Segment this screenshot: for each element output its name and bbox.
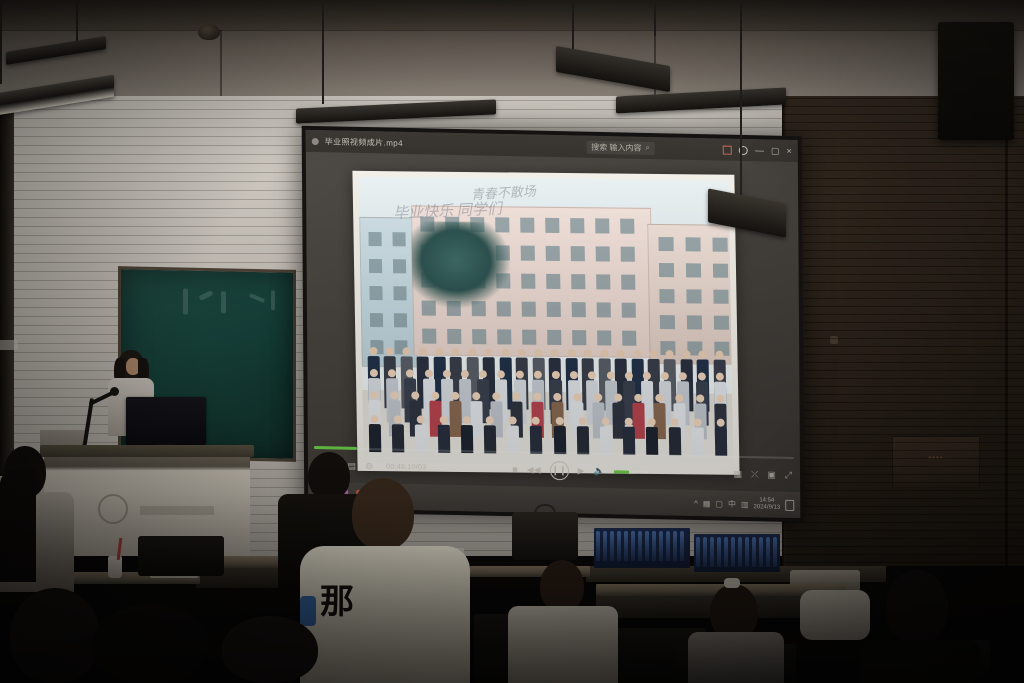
window-controls[interactable]: — ▢ × xyxy=(723,145,792,155)
photo-person-head xyxy=(661,372,669,380)
photo-person-head xyxy=(371,415,379,423)
projected-desktop: 毕业照视频成片.mp4 搜索 输入内容 ⌕ — ▢ × xyxy=(306,130,801,518)
handbag-handle xyxy=(534,504,556,516)
water-bottle xyxy=(673,531,677,561)
photo-window xyxy=(597,330,611,345)
wall-slat xyxy=(782,466,1024,467)
wall-slat xyxy=(782,386,1024,387)
hamburger-icon[interactable] xyxy=(312,137,319,144)
photo-window xyxy=(714,316,729,330)
photo-person-head xyxy=(419,348,427,356)
photo-person xyxy=(622,418,635,455)
photo-person xyxy=(599,417,612,454)
water-bottle xyxy=(603,531,607,561)
photo-person-head xyxy=(402,347,410,355)
photo-window xyxy=(369,259,382,273)
photo-window xyxy=(570,218,584,233)
photo-window xyxy=(546,274,560,289)
photo-person-head xyxy=(666,350,674,358)
student-far-right-sleeve xyxy=(800,590,870,640)
minimize-button[interactable]: — xyxy=(755,146,764,155)
student-cream-shirt-sleeve xyxy=(300,596,316,626)
photo-person-head xyxy=(600,349,608,357)
wall-plaque: ▪▪▪▪ xyxy=(892,436,980,488)
photo-person-head xyxy=(584,349,592,357)
photo-person-head xyxy=(717,419,725,427)
water-bottle-crate-1 xyxy=(594,528,690,568)
wall-slat xyxy=(782,194,1024,195)
photo-window xyxy=(597,302,611,317)
play-pause-button[interactable]: ❙❙ xyxy=(549,460,568,479)
wall-slat xyxy=(782,234,1024,235)
photo-person-head xyxy=(574,393,582,401)
wall-slat xyxy=(782,282,1024,283)
photo-person-head xyxy=(588,371,596,379)
wall-slat xyxy=(782,338,1024,339)
podium-monitor xyxy=(126,397,206,445)
photo-person-head xyxy=(614,394,622,402)
wall-slat xyxy=(782,210,1024,211)
wall-slat xyxy=(782,346,1024,347)
search-icon[interactable]: ⌕ xyxy=(645,143,650,153)
media-filename: 毕业照视频成片.mp4 xyxy=(325,136,403,149)
water-bottle xyxy=(773,537,777,567)
projector-screen: 毕业照视频成片.mp4 搜索 输入内容 ⌕ — ▢ × xyxy=(302,126,805,523)
maximize-button[interactable]: ▢ xyxy=(771,146,780,155)
wall-light-strip xyxy=(0,340,18,350)
photo-person xyxy=(668,418,681,455)
wall-slat xyxy=(782,490,1024,491)
student-right-row-hairclip xyxy=(724,578,740,588)
smoke-detector-icon xyxy=(198,24,220,40)
student-mid-row-body xyxy=(508,606,618,683)
photo-person-head xyxy=(551,349,559,357)
water-bottle xyxy=(645,531,649,561)
display-icon[interactable]: ▢ xyxy=(715,499,723,508)
search-input[interactable]: 搜索 输入内容 ⌕ xyxy=(586,140,655,154)
photo-person-head xyxy=(486,416,494,424)
photo-person xyxy=(645,418,658,455)
photo-person-head xyxy=(435,348,443,356)
photo-window xyxy=(520,218,534,233)
wall-slat xyxy=(782,162,1024,163)
photo-person-head xyxy=(635,394,643,402)
photo-person-head xyxy=(699,350,707,358)
photo-window xyxy=(369,286,382,300)
wall-slat xyxy=(782,202,1024,203)
photo-person-head xyxy=(388,369,396,377)
photo-building-right xyxy=(647,224,733,365)
mute-button[interactable]: 🔈 xyxy=(593,466,604,475)
photo-person-head xyxy=(553,393,561,401)
water-bottle xyxy=(703,537,707,567)
photo-person-head xyxy=(625,372,633,380)
wall-slat xyxy=(782,378,1024,379)
wall-slat xyxy=(782,546,1024,547)
battery-icon[interactable]: ▥ xyxy=(741,499,749,508)
photo-window xyxy=(472,329,486,344)
photo-window xyxy=(596,246,610,261)
photo-person-body xyxy=(646,427,658,455)
chair-back-1 xyxy=(138,536,224,576)
photo-window xyxy=(659,289,674,303)
water-bottle xyxy=(610,531,614,561)
student-front-center-head xyxy=(92,604,208,683)
photo-window xyxy=(370,313,383,327)
student-cream-shirt-head xyxy=(352,478,414,550)
water-bottle xyxy=(745,537,749,567)
wall-slat xyxy=(782,458,1024,459)
photo-person-head xyxy=(643,372,651,380)
wall-slat xyxy=(782,474,1024,475)
photo-window xyxy=(686,263,701,277)
photo-person xyxy=(576,417,589,454)
photo-person-head xyxy=(391,391,399,399)
student-right-row-body xyxy=(688,632,784,683)
wall-slat xyxy=(782,322,1024,323)
water-bottle xyxy=(617,531,621,561)
photo-window xyxy=(393,286,406,300)
photo-person-head xyxy=(369,347,377,355)
photo-sculpture xyxy=(411,221,510,308)
photo-window xyxy=(620,219,634,234)
previous-button[interactable]: ◀◀ xyxy=(527,465,541,474)
wall-slat xyxy=(782,218,1024,219)
photo-person-head xyxy=(716,373,724,381)
photo-person-head xyxy=(675,394,683,402)
photo-person-head xyxy=(649,350,657,358)
wall-slat xyxy=(782,450,1024,451)
photo-person-head xyxy=(509,416,517,424)
ceiling xyxy=(0,0,1024,100)
photo-window xyxy=(394,313,407,327)
network-icon[interactable]: ▦ xyxy=(703,499,711,508)
photo-window xyxy=(521,274,535,289)
photo-person-head xyxy=(534,349,542,357)
water-bottle xyxy=(759,537,763,567)
photo-person-head xyxy=(370,391,378,399)
drink-cup xyxy=(108,556,122,578)
photo-window xyxy=(497,329,511,344)
photo-person xyxy=(691,418,704,455)
photo-window xyxy=(713,290,728,304)
record-icon[interactable] xyxy=(723,145,732,154)
photo-person-head xyxy=(697,372,705,380)
ceiling-beam xyxy=(0,0,1024,30)
wall-slat xyxy=(782,482,1024,483)
volume-slider[interactable] xyxy=(614,470,648,474)
speed-icon[interactable]: ⤬ xyxy=(751,470,758,479)
student-cream-shirt-graphic: 那 xyxy=(320,586,358,626)
wall-slat xyxy=(782,362,1024,363)
photo-person-head xyxy=(386,347,394,355)
photo-person-head xyxy=(431,392,439,400)
photo-person-head xyxy=(534,371,542,379)
water-bottle xyxy=(638,531,642,561)
photo-window xyxy=(545,218,559,233)
photo-person-head xyxy=(417,416,425,424)
photo-person-head xyxy=(370,369,378,377)
photo-window xyxy=(547,330,561,345)
wall-slat xyxy=(782,410,1024,411)
taskbar-clock[interactable]: 14:54 2024/9/13 xyxy=(753,497,780,511)
water-bottle xyxy=(710,537,714,567)
photo-window xyxy=(422,329,436,344)
photo-person-head xyxy=(463,416,471,424)
settings-icon[interactable]: ⚙ xyxy=(365,462,373,471)
water-bottle xyxy=(652,531,656,561)
wall-slat xyxy=(782,274,1024,275)
wall-slat xyxy=(782,538,1024,539)
wall-slat xyxy=(782,530,1024,531)
photo-person-head xyxy=(670,418,678,426)
wall-slat xyxy=(782,154,1024,155)
wall-slat xyxy=(782,506,1024,507)
photo-person-head xyxy=(616,350,624,358)
photo-person-body xyxy=(692,427,704,455)
water-bottle xyxy=(724,537,728,567)
photo-person-head xyxy=(532,417,540,425)
photo-person xyxy=(553,417,566,454)
photo-window xyxy=(521,246,535,261)
photo-person-head xyxy=(515,371,523,379)
wall-slat xyxy=(782,146,1024,147)
notification-icon[interactable] xyxy=(785,499,794,510)
water-bottle xyxy=(596,531,600,561)
chevron-up-icon[interactable]: ^ xyxy=(694,498,698,507)
water-bottle xyxy=(717,537,721,567)
photo-person-head xyxy=(693,418,701,426)
photo-person-head xyxy=(513,393,521,401)
wall-slat xyxy=(782,394,1024,395)
microphone-head xyxy=(110,387,119,396)
photo-window xyxy=(522,330,536,345)
photo-person-head xyxy=(594,393,602,401)
media-player-titlebar: 毕业照视频成片.mp4 搜索 输入内容 ⌕ — ▢ × xyxy=(306,130,798,162)
photo-window xyxy=(546,246,560,261)
photo-person-body xyxy=(715,428,727,456)
photo-window xyxy=(595,218,609,233)
student-front-center2-head xyxy=(222,616,318,683)
fullscreen-icon[interactable]: ▣ xyxy=(767,470,776,479)
stop-button[interactable]: ■ xyxy=(512,465,518,474)
photo-window xyxy=(572,302,586,317)
wall-slat xyxy=(782,514,1024,515)
photo-window xyxy=(571,246,585,261)
wall-slat xyxy=(782,354,1024,355)
water-bottle xyxy=(680,531,684,561)
photo-person xyxy=(715,419,728,456)
wall-speaker xyxy=(938,22,1014,140)
water-bottle xyxy=(752,537,756,567)
wall-slat xyxy=(782,330,1024,331)
photo-person-head xyxy=(411,391,419,399)
grid-icon[interactable]: ▦ xyxy=(734,469,743,478)
wall-slat xyxy=(782,442,1024,443)
next-button[interactable]: ▶ xyxy=(578,466,585,475)
photo-person-head xyxy=(518,349,526,357)
photo-person-head xyxy=(578,417,586,425)
ime-icon[interactable]: 中 xyxy=(728,498,736,509)
photo-person-head xyxy=(555,417,563,425)
student-left-foreground-hair xyxy=(0,470,36,582)
photo-person-head xyxy=(468,348,476,356)
photo-person-head xyxy=(501,348,509,356)
photo-person-head xyxy=(682,350,690,358)
photo-window xyxy=(713,264,728,278)
clock-date: 2024/9/13 xyxy=(754,504,781,511)
water-bottle-crate-2 xyxy=(694,534,780,572)
wall-slat xyxy=(782,426,1024,427)
photo-person-head xyxy=(552,371,560,379)
photo-person-head xyxy=(492,392,500,400)
student-dark-jacket-head xyxy=(308,452,350,500)
wall-slat xyxy=(782,258,1024,259)
photo-person xyxy=(530,417,543,454)
water-bottle xyxy=(766,537,770,567)
photo-window xyxy=(547,302,561,317)
water-bottle xyxy=(624,531,628,561)
expand-icon[interactable]: ⤢ xyxy=(785,470,792,479)
system-tray: ^ ▦ ▢ 中 ▥ 14:54 2024/9/13 xyxy=(694,496,794,512)
progress-fill xyxy=(314,446,357,450)
student-mid-row-head xyxy=(540,560,584,612)
wall-slat xyxy=(782,562,1024,563)
volume-fill xyxy=(614,470,630,473)
wall-slat xyxy=(782,402,1024,403)
photo-window xyxy=(659,263,674,277)
photo-person-head xyxy=(716,395,724,403)
photo-person-head xyxy=(485,348,493,356)
photo-person-head xyxy=(533,393,541,401)
photo-window xyxy=(392,232,405,246)
photo-person-head xyxy=(497,370,505,378)
water-bottle xyxy=(731,537,735,567)
wall-slat xyxy=(782,314,1024,315)
wall-slat xyxy=(782,434,1024,435)
photo-person-head xyxy=(479,370,487,378)
photo-window xyxy=(621,275,635,290)
time-label: 00:46:10/03 xyxy=(386,463,426,471)
right-wall: ▪▪▪▪ xyxy=(782,96,1024,566)
wall-slat xyxy=(782,290,1024,291)
wall-slat xyxy=(782,178,1024,179)
wall-slat xyxy=(782,170,1024,171)
photo-window xyxy=(686,289,701,303)
water-bottle xyxy=(696,537,700,567)
wall-slat xyxy=(782,370,1024,371)
graduation-photo: 青春不散场 毕业快乐 同学们 xyxy=(352,171,739,475)
photo-window xyxy=(712,238,727,252)
photo-window xyxy=(447,329,461,344)
photo-person-head xyxy=(472,392,480,400)
photo-person-body xyxy=(669,427,681,455)
wall-slat xyxy=(782,298,1024,299)
water-bottle xyxy=(666,531,670,561)
lectern-emblem xyxy=(98,494,128,524)
photo-person-head xyxy=(406,369,414,377)
wall-slat xyxy=(782,306,1024,307)
wall-slat xyxy=(782,554,1024,555)
student-front-left-head xyxy=(10,588,100,683)
photo-window xyxy=(393,259,406,273)
water-bottle xyxy=(738,537,742,567)
photo-window xyxy=(572,330,586,345)
wall-slat xyxy=(782,522,1024,523)
photo-person-head xyxy=(452,392,460,400)
lectern-label xyxy=(140,506,214,515)
photo-person-head xyxy=(601,417,609,425)
photo-person-head xyxy=(647,418,655,426)
wall-slat xyxy=(782,266,1024,267)
photo-person xyxy=(507,416,520,453)
photo-window xyxy=(622,331,636,346)
photo-window xyxy=(571,274,585,289)
close-button[interactable]: × xyxy=(786,146,791,155)
photo-window xyxy=(660,315,675,329)
photo-person-head xyxy=(440,416,448,424)
wall-slat xyxy=(782,186,1024,187)
wall-slat xyxy=(782,498,1024,499)
student-far-right-head xyxy=(886,570,948,644)
wall-slat xyxy=(782,250,1024,251)
wall-slat xyxy=(782,418,1024,419)
wall-slat xyxy=(782,242,1024,243)
photo-person-head xyxy=(624,418,632,426)
photo-person-head xyxy=(655,394,663,402)
wall-slat xyxy=(782,226,1024,227)
photo-person-head xyxy=(696,394,704,402)
photo-window xyxy=(522,302,536,317)
search-placeholder: 搜索 输入内容 xyxy=(591,141,641,153)
photo-window xyxy=(621,247,635,262)
water-bottle xyxy=(631,531,635,561)
handbag-on-desk xyxy=(512,512,578,560)
photo-window xyxy=(368,232,381,246)
photo-window xyxy=(685,237,700,251)
water-bottle xyxy=(659,531,663,561)
photo-person-head xyxy=(461,370,469,378)
photo-person-head xyxy=(424,370,432,378)
photo-person-head xyxy=(570,371,578,379)
photo-person-head xyxy=(679,372,687,380)
left-wall-edge xyxy=(0,96,14,476)
photo-window xyxy=(596,274,610,289)
photo-person-head xyxy=(606,371,614,379)
photo-person-head xyxy=(567,349,575,357)
photo-building-left xyxy=(359,217,418,368)
photo-person-head xyxy=(452,348,460,356)
student-far-right-body xyxy=(860,640,980,683)
photo-person-head xyxy=(715,351,723,359)
photo-person-head xyxy=(633,350,641,358)
photo-window xyxy=(658,237,673,251)
photo-person-head xyxy=(443,370,451,378)
photo-window xyxy=(622,303,636,318)
photo-window xyxy=(687,315,702,329)
classroom-scene: ▪▪▪▪ 毕业照视频成片.mp4 搜索 输入内容 ⌕ xyxy=(0,0,1024,683)
photo-person-head xyxy=(394,415,402,423)
